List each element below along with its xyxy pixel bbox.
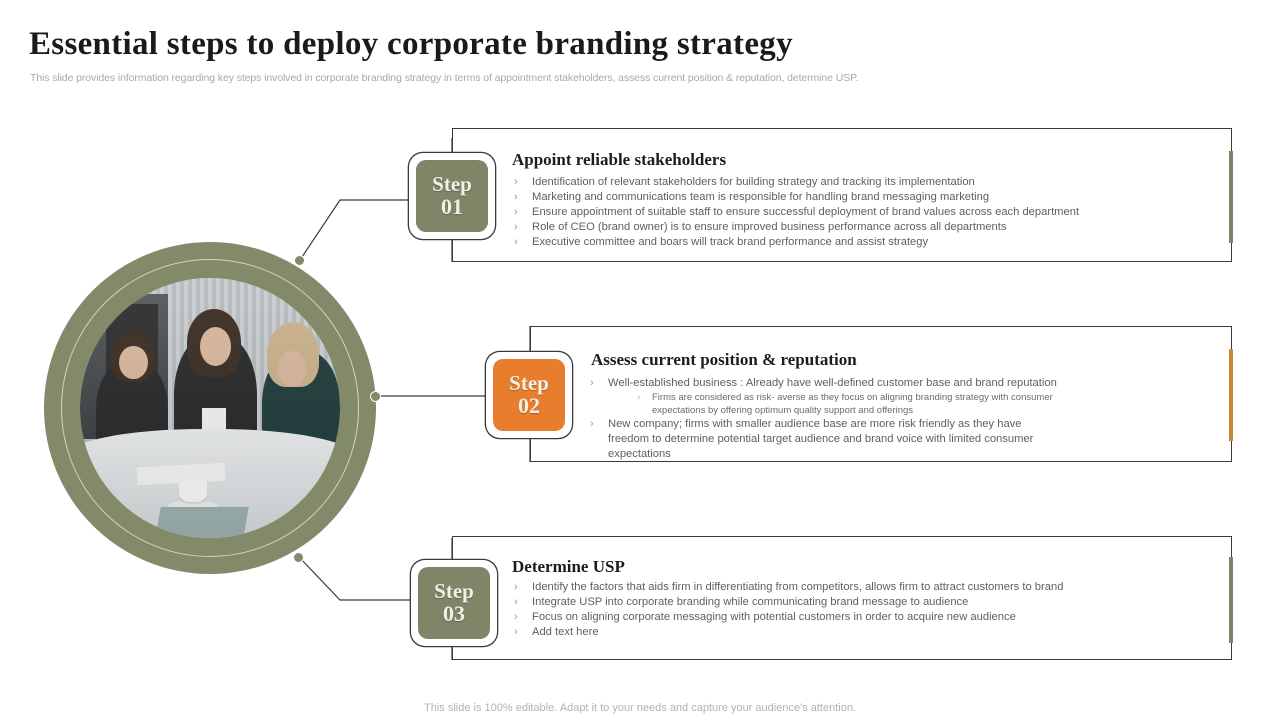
- bullet-text: Marketing and communications team is res…: [532, 190, 989, 205]
- bullet-text: Identification of relevant stakeholders …: [532, 175, 975, 190]
- bullet-text: Executive committee and boars will track…: [532, 235, 928, 250]
- bullet-marker: ›: [514, 235, 532, 250]
- list-item: › New company; firms with smaller audien…: [590, 417, 1057, 462]
- step-3-bullets: › Identify the factors that aids firm in…: [514, 580, 1063, 640]
- list-item: › Marketing and communications team is r…: [514, 190, 1079, 205]
- bullet-text: Well-established business : Already have…: [608, 376, 1057, 391]
- bullet-marker: ›: [514, 610, 532, 625]
- list-item: › Role of CEO (brand owner) is to ensure…: [514, 220, 1079, 235]
- step-3-badge-inner: Step 03: [418, 567, 490, 639]
- step-2-accent-bar: [1229, 349, 1233, 441]
- ring-node-middle: [370, 391, 381, 402]
- bullet-marker: ›: [590, 376, 608, 391]
- page-subtitle: This slide provides information regardin…: [30, 72, 858, 84]
- page-title: Essential steps to deploy corporate bran…: [29, 26, 793, 63]
- step-2-badge-number: 02: [518, 394, 540, 418]
- list-item: › Identification of relevant stakeholder…: [514, 175, 1079, 190]
- step-1-badge-inner: Step 01: [416, 160, 488, 232]
- bullet-text: Role of CEO (brand owner) is to ensure i…: [532, 220, 1006, 235]
- slide-footer-note: This slide is 100% editable. Adapt it to…: [0, 702, 1280, 714]
- list-item: › Well-established business : Already ha…: [590, 376, 1057, 391]
- step-3-badge-label: Step: [434, 580, 474, 603]
- list-item-sub: ◦ Firms are considered as risk- averse a…: [637, 391, 1057, 417]
- bullet-marker: ›: [514, 580, 532, 595]
- step-3-badge-number: 03: [443, 602, 465, 626]
- bullet-text: Focus on aligning corporate messaging wi…: [532, 610, 1016, 625]
- list-item: › Integrate USP into corporate branding …: [514, 595, 1063, 610]
- list-item: › Focus on aligning corporate messaging …: [514, 610, 1063, 625]
- step-2-heading: Assess current position & reputation: [591, 350, 857, 370]
- step-3-heading: Determine USP: [512, 557, 625, 577]
- step-1-bullets: › Identification of relevant stakeholder…: [514, 175, 1079, 250]
- list-item: › Executive committee and boars will tra…: [514, 235, 1079, 250]
- step-1-heading: Appoint reliable stakeholders: [512, 150, 726, 170]
- bullet-marker: ›: [514, 205, 532, 220]
- list-item: › Add text here: [514, 625, 1063, 640]
- bullet-text: Firms are considered as risk- averse as …: [652, 391, 1057, 417]
- step-1-badge[interactable]: Step 01: [409, 153, 495, 239]
- step-1-accent-bar: [1229, 151, 1233, 243]
- bullet-text: Integrate USP into corporate branding wh…: [532, 595, 968, 610]
- bullet-text: Identify the factors that aids firm in d…: [532, 580, 1063, 595]
- bullet-text: Ensure appointment of suitable staff to …: [532, 205, 1079, 220]
- business-meeting-photo: [80, 278, 340, 538]
- step-2-badge[interactable]: Step 02: [486, 352, 572, 438]
- ring-node-bottom: [293, 552, 304, 563]
- bullet-marker: ›: [514, 220, 532, 235]
- bullet-text: Add text here: [532, 625, 599, 640]
- step-2-badge-inner: Step 02: [493, 359, 565, 431]
- bullet-text: New company; firms with smaller audience…: [608, 417, 1057, 462]
- step-3-accent-bar: [1229, 557, 1233, 643]
- bullet-marker: ›: [514, 175, 532, 190]
- slide-canvas: Essential steps to deploy corporate bran…: [0, 0, 1280, 720]
- list-item: › Identify the factors that aids firm in…: [514, 580, 1063, 595]
- circle-photo-frame: [44, 242, 376, 574]
- step-2-bullets: › Well-established business : Already ha…: [590, 376, 1057, 462]
- bullet-marker: ›: [514, 625, 532, 640]
- step-2-badge-label: Step: [509, 372, 549, 395]
- ring-node-top: [294, 255, 305, 266]
- bullet-marker: ›: [590, 417, 608, 432]
- list-item: › Ensure appointment of suitable staff t…: [514, 205, 1079, 220]
- step-1-badge-number: 01: [441, 195, 463, 219]
- bullet-marker: ◦: [637, 391, 652, 406]
- step-1-badge-label: Step: [432, 173, 472, 196]
- step-3-badge[interactable]: Step 03: [411, 560, 497, 646]
- bullet-marker: ›: [514, 190, 532, 205]
- bullet-marker: ›: [514, 595, 532, 610]
